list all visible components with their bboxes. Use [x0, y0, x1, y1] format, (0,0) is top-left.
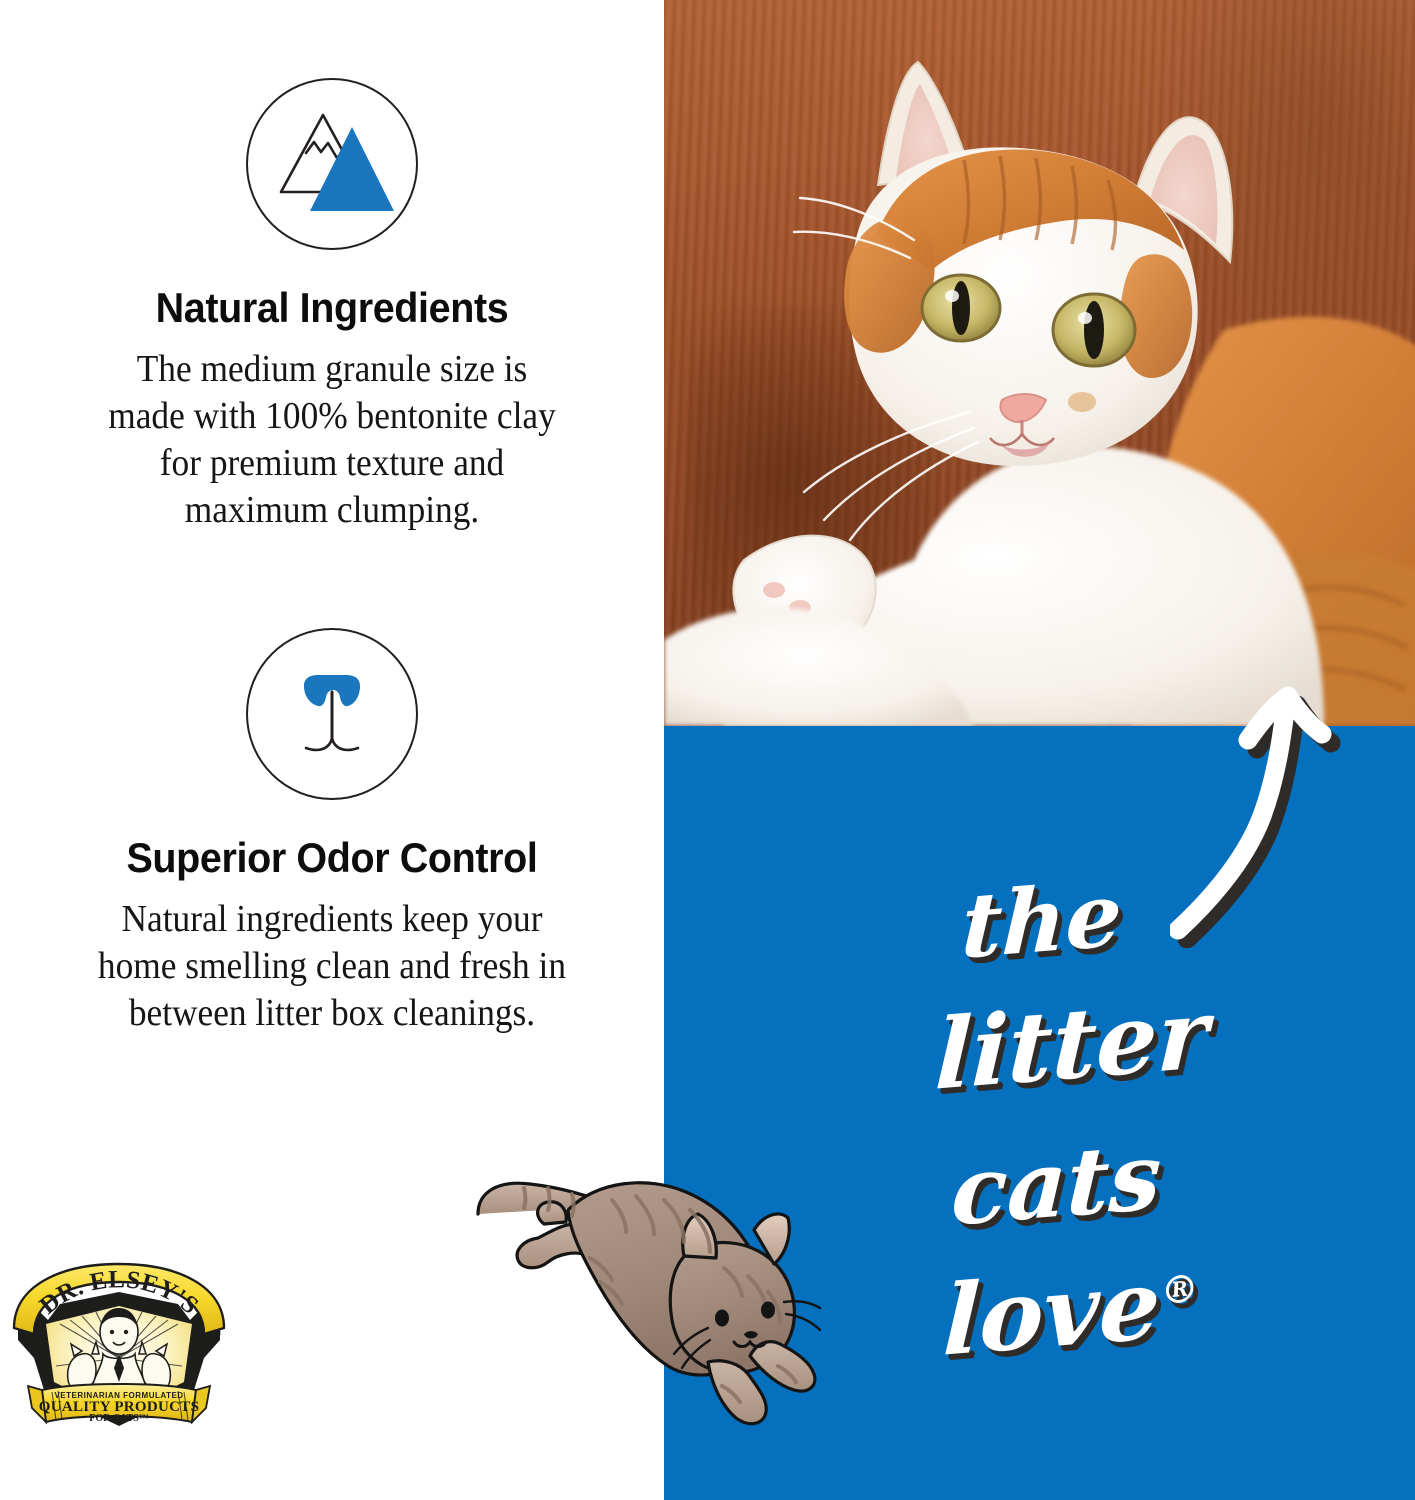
feature-body-line: home smelling clean and fresh in: [72, 943, 593, 990]
mountain-icon: [246, 78, 418, 250]
orange-white-cat-photo: [664, 0, 1415, 726]
logo-registered-mark: ®: [216, 1330, 222, 1338]
feature-body: The medium granule size is made with 100…: [72, 330, 593, 534]
logo-banner-line-3: FOR CATS™: [89, 1413, 149, 1424]
feature-block-natural-ingredients: Natural Ingredients The medium granule s…: [0, 78, 664, 535]
feature-title: Natural Ingredients: [20, 250, 644, 330]
feature-body-line: Natural ingredients keep your: [72, 896, 593, 943]
feature-body-line: between litter box cleanings.: [72, 990, 593, 1037]
cat-nose-icon: [246, 628, 418, 800]
feature-body: Natural ingredients keep your home smell…: [72, 880, 593, 1037]
feature-body-line: made with 100% bentonite clay: [72, 393, 593, 440]
jumping-cat-illustration: [472, 1152, 847, 1427]
dr-elseys-logo: DR. ELSEY'S ® VETERINARIAN FORMULATED QU…: [8, 1262, 230, 1438]
feature-title: Superior Odor Control: [20, 800, 644, 880]
feature-body-line: for premium texture and: [72, 440, 593, 487]
product-feature-infographic: Natural Ingredients The medium granule s…: [0, 0, 1415, 1500]
cat-illustration-photo: [664, 0, 1415, 726]
feature-block-superior-odor-control: Superior Odor Control Natural ingredient…: [0, 628, 664, 1037]
feature-body-line: The medium granule size is: [72, 346, 593, 393]
feature-body-line: maximum clumping.: [72, 487, 593, 534]
curved-arrow-up-icon: [1170, 648, 1350, 948]
